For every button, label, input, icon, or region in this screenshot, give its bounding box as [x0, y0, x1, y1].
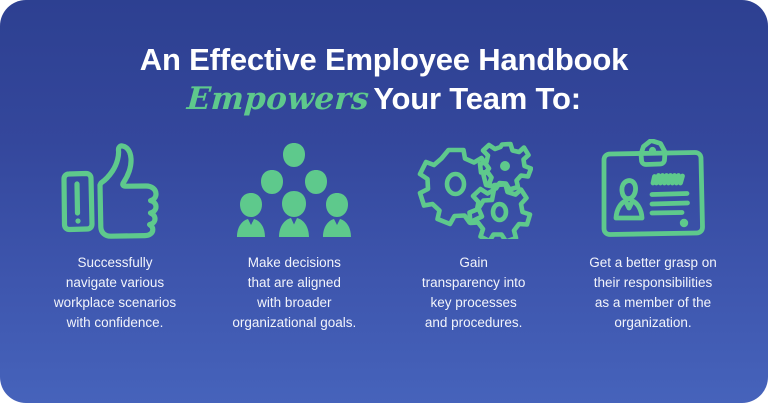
gears-icon [415, 139, 533, 239]
headline-line-2-rest: Your Team To: [373, 81, 581, 116]
benefit-column-4: Get a better grasp on their responsibili… [564, 139, 742, 333]
benefit-caption-3: Gain transparency into key processes and… [422, 253, 526, 333]
infographic-card: An Effective Employee Handbook EmpowersY… [0, 0, 768, 403]
page-title: An Effective Employee Handbook EmpowersY… [0, 42, 768, 117]
benefit-caption-4: Get a better grasp on their responsibili… [589, 253, 717, 333]
benefits-columns: Successfully navigate various workplace … [0, 139, 768, 333]
benefit-caption-2: Make decisions that are aligned with bro… [232, 253, 356, 333]
headline-line-2: EmpowersYour Team To: [0, 81, 768, 118]
thumbs-up-icon [56, 139, 174, 239]
id-badge-clipboard-icon [594, 139, 712, 239]
headline-line-1: An Effective Employee Handbook [0, 42, 768, 79]
benefit-column-1: Successfully navigate various workplace … [26, 139, 204, 333]
benefit-column-2: Make decisions that are aligned with bro… [205, 139, 383, 333]
group-of-people-icon [235, 139, 353, 239]
benefit-column-3: Gain transparency into key processes and… [385, 139, 563, 333]
benefit-caption-1: Successfully navigate various workplace … [54, 253, 176, 333]
headline-script-word: Empowers [186, 81, 371, 118]
